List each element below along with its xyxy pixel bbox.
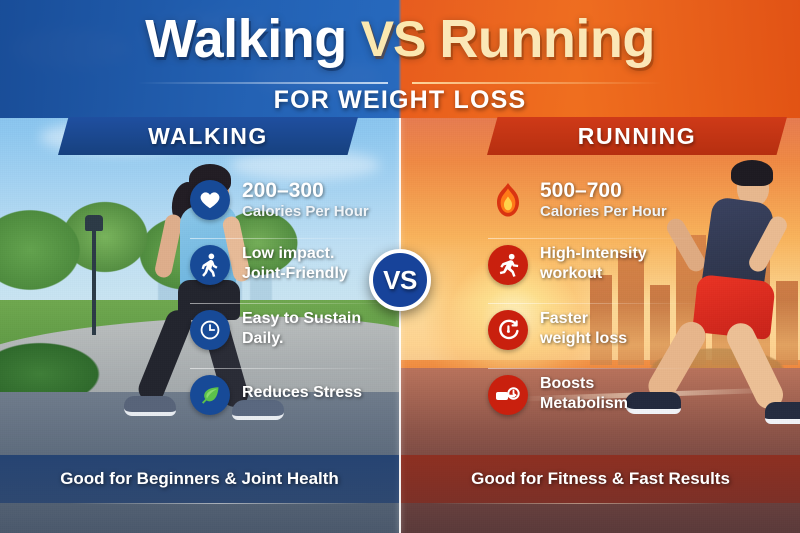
list-item-text: Easy to Sustain Daily. xyxy=(242,309,402,349)
center-vs-badge: VS xyxy=(369,249,431,311)
title-vs: VS xyxy=(361,14,426,64)
feature-line-1: High-Intensity xyxy=(540,244,700,264)
feature-line-1: Easy to Sustain xyxy=(242,309,402,329)
footer-running-label: Good for Fitness & Fast Results xyxy=(471,469,730,489)
main-title: Walking VS Running xyxy=(0,8,800,70)
footer-walking-label: Good for Beginners & Joint Health xyxy=(60,469,339,489)
feature-line-2: weight loss xyxy=(540,329,700,349)
section-banner-walking-label: WALKING xyxy=(148,123,268,150)
leaf-icon xyxy=(190,375,230,415)
feature-line-2: Daily. xyxy=(242,329,402,349)
stopwatch-icon xyxy=(488,310,528,350)
walking-person-icon xyxy=(190,245,230,285)
infographic-canvas: Walking VS Running FOR WEIGHT LOSS WALKI… xyxy=(0,0,800,533)
section-banner-walking: WALKING xyxy=(58,117,358,155)
list-item: Easy to Sustain Daily. xyxy=(190,306,395,371)
running-feature-list: 500–700 Calories Per Hour High-Intensity… xyxy=(488,176,703,436)
title-walking: Walking xyxy=(145,12,347,66)
calorie-range: 200–300 xyxy=(242,179,402,203)
list-separator xyxy=(190,303,395,304)
list-item-text: 200–300 Calories Per Hour xyxy=(242,179,402,221)
running-person-icon xyxy=(488,245,528,285)
feature-line-1: Faster xyxy=(540,309,700,329)
footer-walking: Good for Beginners & Joint Health xyxy=(0,455,399,503)
title-running: Running xyxy=(439,12,654,66)
section-banner-running: RUNNING xyxy=(487,117,787,155)
list-item: Reduces Stress xyxy=(190,371,395,436)
list-separator xyxy=(190,368,395,369)
section-banner-running-label: RUNNING xyxy=(578,123,697,150)
list-item-text: Boosts Metabolism xyxy=(540,374,700,414)
list-item-text: Faster weight loss xyxy=(540,309,700,349)
footer: Good for Beginners & Joint Health Good f… xyxy=(0,443,800,533)
title-rule-right xyxy=(412,82,662,84)
list-item: High-Intensity workout xyxy=(488,241,703,306)
title-rule-left xyxy=(138,82,388,84)
list-separator xyxy=(488,238,703,239)
footer-rule-right xyxy=(430,503,730,504)
metabolism-arrow-icon xyxy=(488,375,528,415)
feature-line-2: workout xyxy=(540,264,700,284)
clock-icon xyxy=(190,310,230,350)
feature-line-2: Metabolism xyxy=(540,394,700,414)
walking-feature-list: 200–300 Calories Per Hour Low impact. Jo… xyxy=(190,176,395,436)
calorie-unit: Calories Per Hour xyxy=(540,203,700,221)
list-item: Faster weight loss xyxy=(488,306,703,371)
feature-line-1: Boosts xyxy=(540,374,700,394)
list-item: Low impact. Joint-Friendly xyxy=(190,241,395,306)
footer-rule-left xyxy=(70,503,370,504)
lamp-post xyxy=(92,225,96,335)
list-item: 500–700 Calories Per Hour xyxy=(488,176,703,241)
list-item: Boosts Metabolism xyxy=(488,371,703,436)
list-separator xyxy=(488,368,703,369)
list-item: 200–300 Calories Per Hour xyxy=(190,176,395,241)
list-item-text: High-Intensity workout xyxy=(540,244,700,284)
list-item-text: 500–700 Calories Per Hour xyxy=(540,179,700,221)
list-item-text: Reduces Stress xyxy=(242,383,402,403)
list-separator xyxy=(190,238,395,239)
heart-icon xyxy=(190,180,230,220)
footer-running: Good for Fitness & Fast Results xyxy=(401,455,800,503)
subtitle: FOR WEIGHT LOSS xyxy=(0,86,800,115)
calorie-unit: Calories Per Hour xyxy=(242,203,402,221)
list-separator xyxy=(488,303,703,304)
calorie-range: 500–700 xyxy=(540,179,700,203)
feature-line-1: Reduces Stress xyxy=(242,383,402,403)
center-vs-badge-label: VS xyxy=(383,265,417,296)
flame-icon xyxy=(488,180,528,220)
